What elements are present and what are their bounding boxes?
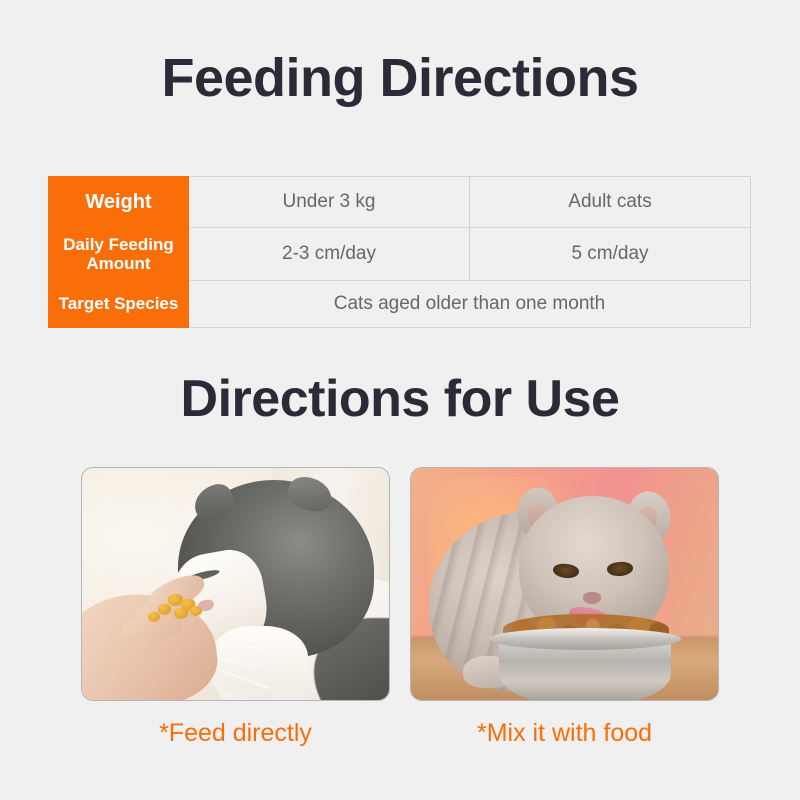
photo-kitten-eating-from-bowl xyxy=(411,468,718,700)
table-cell-weight-small: Under 3 kg xyxy=(189,177,470,228)
usage-photo-card-mix-with-food xyxy=(410,467,719,701)
usage-caption-feed-directly: *Feed directly xyxy=(81,718,390,748)
table-row: Target Species Cats aged older than one … xyxy=(49,281,751,328)
table-row-label-target-species: Target Species xyxy=(49,281,189,328)
table-cell-daily-adult: 5 cm/day xyxy=(470,228,751,281)
feeding-directions-page: Feeding Directions Weight Under 3 kg Adu… xyxy=(0,0,800,800)
table-cell-target-species-value: Cats aged older than one month xyxy=(189,281,751,328)
metal-food-bowl-rim xyxy=(489,628,681,650)
table-cell-weight-adult: Adult cats xyxy=(470,177,751,228)
kitten-nose xyxy=(583,592,601,604)
table-cell-daily-small: 2-3 cm/day xyxy=(189,228,470,281)
photo-cat-sniffing-treats xyxy=(82,468,389,700)
usage-photo-card-feed-directly xyxy=(81,467,390,701)
feeding-directions-table: Weight Under 3 kg Adult cats Daily Feedi… xyxy=(48,176,751,328)
table-row-label-weight: Weight xyxy=(49,177,189,228)
table-row: Daily Feeding Amount 2-3 cm/day 5 cm/day xyxy=(49,228,751,281)
table-row-label-daily-feeding-amount: Daily Feeding Amount xyxy=(49,228,189,281)
page-title-feeding-directions: Feeding Directions xyxy=(0,46,800,110)
usage-caption-mix-with-food: *Mix it with food xyxy=(410,718,719,748)
section-title-directions-for-use: Directions for Use xyxy=(0,368,800,430)
table-row: Weight Under 3 kg Adult cats xyxy=(49,177,751,228)
